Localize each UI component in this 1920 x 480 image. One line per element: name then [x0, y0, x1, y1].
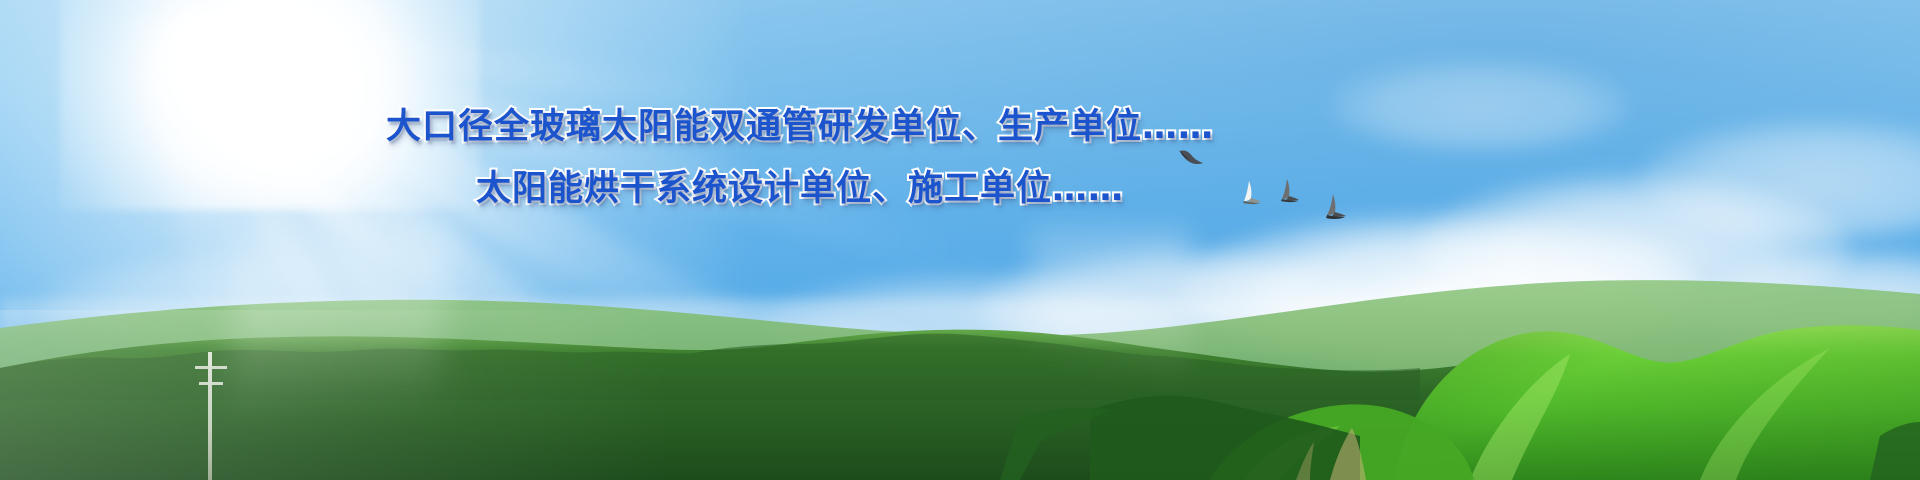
sun-icon — [60, 0, 480, 210]
utility-pole — [208, 352, 212, 480]
hills-landscape — [0, 250, 1920, 480]
dirt-path — [0, 250, 1920, 480]
hero-banner: 大口径全玻璃太阳能双通管研发单位、生产单位…… 太阳能烘干系统设计单位、施工单位… — [0, 0, 1920, 480]
cloud — [1330, 60, 1630, 150]
